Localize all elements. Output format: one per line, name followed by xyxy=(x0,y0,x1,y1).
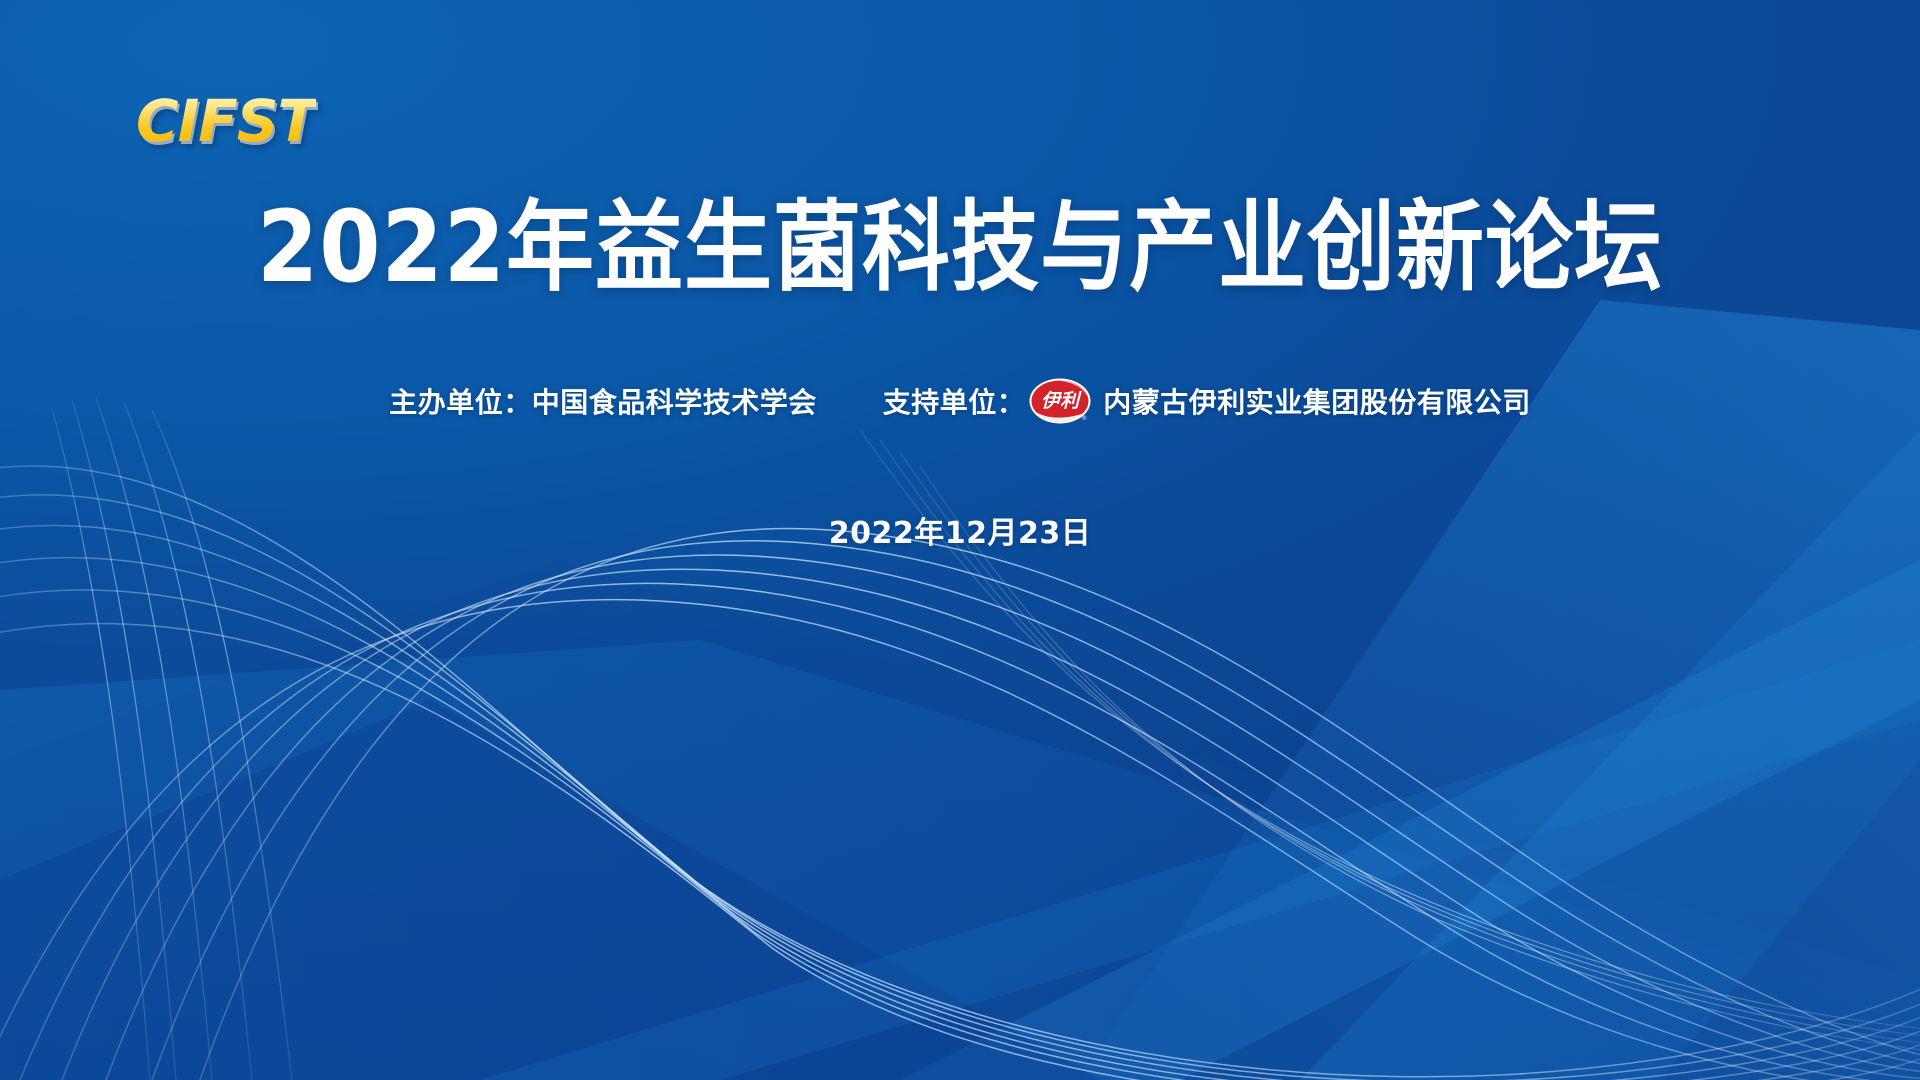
organizer-row: 主办单位： 中国食品科学技术学会 支持单位： xyxy=(0,378,1920,424)
cifst-logo: CIFST xyxy=(136,92,316,150)
yili-logo-icon: 伊利 ® xyxy=(1029,378,1091,424)
organizer-label: 主办单位： xyxy=(389,381,532,421)
page-title: 2022年益生菌科技与产业创新论坛 xyxy=(257,196,1663,299)
supporter-label: 支持单位： xyxy=(883,381,1026,421)
yili-logo-text: 伊利 xyxy=(1041,390,1082,412)
event-date: 2022年12月23日 xyxy=(0,508,1920,552)
registered-mark-icon: ® xyxy=(1081,414,1088,422)
poster-canvas: CIFST 2022年益生菌科技与产业创新论坛 主办单位： 中国食品科学技术学会… xyxy=(0,0,1920,1080)
supporter-name: 内蒙古伊利实业集团股份有限公司 xyxy=(1103,381,1531,421)
organizer-name: 中国食品科学技术学会 xyxy=(532,381,817,421)
title-block: 2022年益生菌科技与产业创新论坛 xyxy=(0,196,1920,288)
